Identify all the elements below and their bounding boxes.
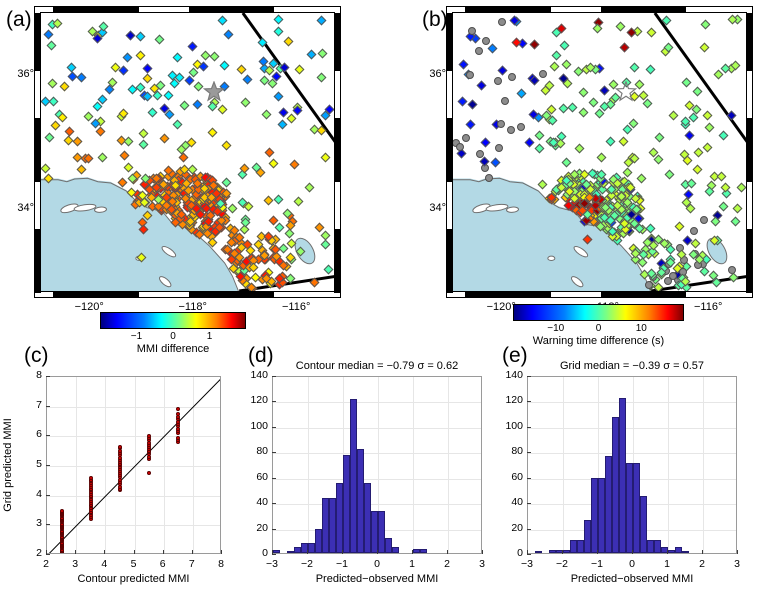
colorbar-gradient-b [513,304,684,321]
map-lon-tick-a-2: −116° [266,301,326,313]
colorbar-tick-b-1: 0 [579,323,619,334]
scatter-point [89,476,93,480]
yticklabel-c-0: 2 [12,547,42,559]
yticklabel-e-4: 80 [493,445,523,457]
histogram-bar [640,496,647,553]
histogram-bar [294,547,301,553]
histogram-bar [287,551,294,553]
histogram-bar [350,399,357,553]
histogram-bar [378,511,385,553]
gridline-v-c-2 [105,377,106,553]
ytick-e-7 [527,376,531,377]
ytick-d-2 [272,503,276,504]
plot-title-d: Contour median = −0.79 σ = 0.62 [272,360,482,372]
xtick-d-2 [342,550,343,554]
histogram-bar [322,498,329,553]
frame-seg-bottom-0 [465,291,551,297]
xtick-d-4 [412,550,413,554]
plot-area-c [46,376,221,554]
histogram-bar [675,547,682,553]
ytick-e-0 [527,554,531,555]
frame-seg-left-0 [35,13,41,71]
ytick-d-3 [272,478,276,479]
frame-seg-top-0 [53,7,139,13]
yticklabel-c-1: 3 [12,517,42,529]
histogram-bar [392,547,399,553]
gridline-h-d-5 [273,428,481,429]
yticklabel-e-5: 100 [493,420,523,432]
xticklabel-c-6: 8 [201,558,241,570]
map-lat-tick-a-0: 36° [4,68,34,80]
map-frame-decor-b [446,6,753,298]
colorbar-tick-a-0: −1 [117,331,157,342]
ytick-e-1 [527,529,531,530]
yticklabel-d-7: 140 [238,369,268,381]
xtick-d-6 [482,550,483,554]
histogram-bar [343,455,350,553]
yticklabel-c-3: 5 [12,458,42,470]
ytick-c-3 [46,465,50,466]
map-lat-tick-a-1: 34° [4,202,34,214]
histogram-bar [577,540,584,553]
xtick-e-1 [562,550,563,554]
colorbar-tick-b-0: −10 [536,323,576,334]
histogram-bar [563,550,570,553]
frame-seg-left-1 [447,118,453,182]
ytick-c-4 [46,435,50,436]
ytick-e-3 [527,478,531,479]
histogram-bar [584,520,591,553]
histogram-bar [385,538,392,553]
histogram-bar [357,449,364,553]
plot-area-d [272,376,482,554]
panel-letter-a: (a) [6,8,32,32]
ytick-c-5 [46,406,50,407]
panel-letter-e: (e) [502,344,528,368]
gridline-v-c-4 [164,377,165,553]
frame-seg-left-2 [35,229,41,293]
xtick-c-5 [192,550,193,554]
histogram-bar [626,463,633,553]
colorbar-tick-a-1: 0 [153,331,193,342]
xtick-e-2 [597,550,598,554]
yticklabel-d-0: 0 [238,547,268,559]
ytick-d-7 [272,376,276,377]
frame-seg-left-1 [35,118,41,182]
xticklabel-d-6: 3 [462,558,502,570]
gridline-h-e-6 [528,402,736,403]
xtick-e-3 [632,550,633,554]
yticklabel-e-7: 140 [493,369,523,381]
panel-letter-b: (b) [422,8,448,32]
frame-seg-right-1 [334,118,340,182]
scatter-point [60,509,64,513]
ytick-e-6 [527,401,531,402]
ytick-e-4 [527,452,531,453]
xticklabel-d-1: −2 [287,558,327,570]
xticklabel-e-5: 2 [682,558,722,570]
map-b: 36°34°−120°−118°−116° [452,12,747,292]
yticklabel-d-2: 40 [238,496,268,508]
yticklabel-d-4: 80 [238,445,268,457]
frame-seg-right-0 [746,13,752,71]
scatter-point [176,407,180,411]
frame-seg-left-0 [447,13,453,71]
histogram-bar [570,540,577,553]
histogram-bar [420,549,427,553]
yticklabel-d-1: 20 [238,522,268,534]
xtick-c-3 [134,550,135,554]
xtick-d-5 [447,550,448,554]
histogram-bar [647,540,654,553]
frame-seg-top-1 [189,7,275,13]
gridline-h-c-1 [47,525,220,526]
yticklabel-e-1: 20 [493,522,523,534]
xticklabel-e-4: 1 [647,558,687,570]
map-frame-decor-a [34,6,341,298]
histogram-bar [336,483,343,553]
xtick-c-6 [221,550,222,554]
plot-c: 23456782345678Contour predicted MMIGrid … [46,376,221,554]
histogram-bar [364,483,371,553]
ytick-e-5 [527,427,531,428]
scatter-point [118,445,122,449]
xticklabel-e-6: 3 [717,558,757,570]
plot-title-e: Grid median = −0.39 σ = 0.57 [527,360,737,372]
xticklabel-e-1: −2 [542,558,582,570]
gridline-h-d-6 [273,402,481,403]
colorbar-title-a: MMI difference [100,343,246,355]
figure-root: (a)(b)(c)(d)(e)36°34°−120°−118°−116°36°3… [0,0,768,594]
colorbar-tick-a-2: 1 [190,331,230,342]
histogram-bar [371,511,378,553]
xticklabel-e-2: −1 [577,558,617,570]
yticklabel-c-2: 4 [12,488,42,500]
histogram-bar [549,550,556,553]
histogram-bar [619,398,626,553]
yticklabel-e-0: 0 [493,547,523,559]
yticklabel-c-6: 8 [12,369,42,381]
frame-seg-right-1 [746,118,752,182]
panel-letter-c: (c) [24,344,49,368]
histogram-bar [308,543,315,553]
plot-d: −3−2−10123020406080100120140Predicted−ob… [272,376,482,554]
scatter-point [147,471,151,475]
yaxis-label-c: Grid predicted MMI [2,376,14,554]
xticklabel-d-0: −3 [252,558,292,570]
xtick-d-3 [377,550,378,554]
xticklabel-d-5: 2 [427,558,467,570]
xtick-c-1 [75,550,76,554]
yticklabel-e-2: 40 [493,496,523,508]
xtick-e-5 [702,550,703,554]
ytick-d-6 [272,401,276,402]
map-lat-tick-b-0: 36° [416,68,446,80]
ytick-c-0 [46,554,50,555]
histogram-bar [535,551,542,553]
histogram-bar [591,478,598,553]
histogram-bar [273,550,280,553]
frame-seg-top-1 [601,7,687,13]
histogram-bar [682,551,689,553]
frame-seg-bottom-0 [53,291,139,297]
histogram-bar [413,549,420,553]
frame-seg-bottom-1 [601,291,687,297]
scatter-point [176,436,180,440]
xticklabel-e-3: 0 [612,558,652,570]
frame-seg-top-0 [465,7,551,13]
histogram-bar [315,529,322,553]
gridline-h-d-2 [273,504,481,505]
gridline-h-d-3 [273,479,481,480]
panel-letter-d: (d) [248,344,274,368]
frame-seg-right-2 [334,229,340,293]
xaxis-label-d: Predicted−observed MMI [272,573,482,585]
ytick-d-5 [272,427,276,428]
frame-seg-right-2 [746,229,752,293]
histogram-bar [668,550,675,553]
map-lon-tick-b-2: −116° [678,301,738,313]
colorbar-a: −101MMI difference [100,312,246,329]
yticklabel-c-4: 6 [12,428,42,440]
scatter-point [147,434,151,438]
gridline-h-e-5 [528,428,736,429]
ytick-e-2 [527,503,531,504]
ytick-c-2 [46,495,50,496]
ytick-d-0 [272,554,276,555]
ytick-d-1 [272,529,276,530]
histogram-bar [633,463,640,553]
frame-seg-left-2 [447,229,453,293]
yticklabel-e-3: 60 [493,471,523,483]
map-lat-tick-b-1: 34° [416,202,446,214]
colorbar-tick-b-2: 10 [621,323,661,334]
yticklabel-e-6: 120 [493,394,523,406]
histogram-bar [654,540,661,553]
histogram-bar [605,456,612,553]
colorbar-title-b: Warning time difference (s) [513,335,684,347]
plot-area-e [527,376,737,554]
xtick-e-6 [737,550,738,554]
histogram-bar [329,498,336,553]
xticklabel-d-2: −1 [322,558,362,570]
yticklabel-d-5: 100 [238,420,268,432]
gridline-h-e-4 [528,453,736,454]
ytick-c-1 [46,524,50,525]
gridline-v-c-5 [193,377,194,553]
gridline-h-c-4 [47,436,220,437]
histogram-bar [612,417,619,553]
ytick-c-6 [46,376,50,377]
xticklabel-d-3: 0 [357,558,397,570]
frame-seg-right-0 [334,13,340,71]
xaxis-label-c: Contour predicted MMI [46,573,221,585]
xaxis-label-e: Predicted−observed MMI [527,573,737,585]
yticklabel-c-5: 7 [12,399,42,411]
yticklabel-d-6: 120 [238,394,268,406]
frame-seg-bottom-1 [189,291,275,297]
xtick-c-2 [104,550,105,554]
ytick-d-4 [272,452,276,453]
xticklabel-d-4: 1 [392,558,432,570]
gridline-h-c-2 [47,496,220,497]
gridline-h-d-4 [273,453,481,454]
xtick-c-4 [163,550,164,554]
yticklabel-d-3: 60 [238,471,268,483]
xtick-e-4 [667,550,668,554]
colorbar-b: −10010Warning time difference (s) [513,304,684,321]
histogram-bar [598,478,605,553]
plot-e: −3−2−10123020406080100120140Predicted−ob… [527,376,737,554]
colorbar-gradient-a [100,312,246,329]
xtick-d-1 [307,550,308,554]
map-a: 36°34°−120°−118°−116° [40,12,335,292]
xticklabel-e-0: −3 [507,558,547,570]
